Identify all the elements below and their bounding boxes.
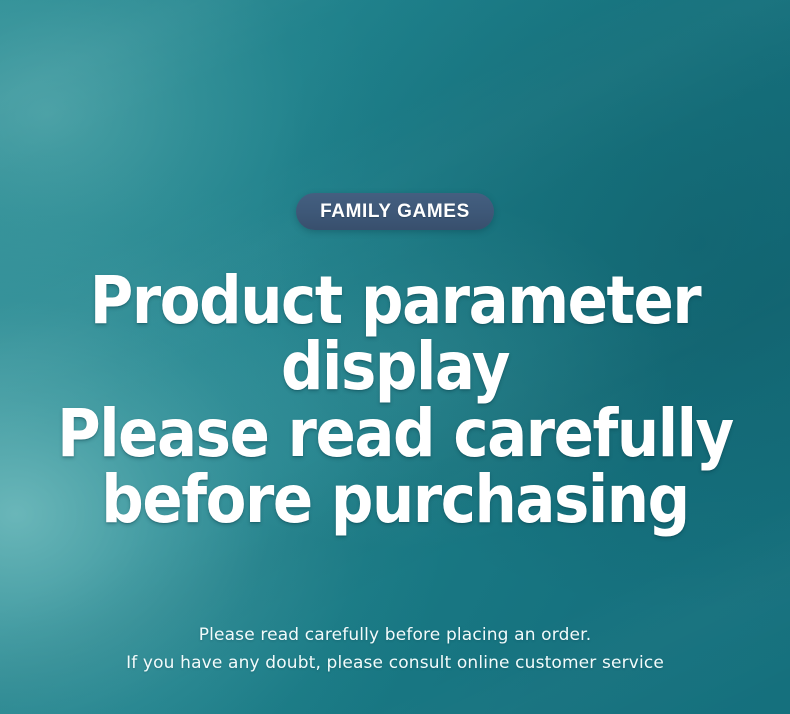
page-title-line-4: before purchasing <box>40 467 751 533</box>
page-subtitle-line-2: If you have any doubt, please consult on… <box>0 649 790 677</box>
category-badge-label: FAMILY GAMES <box>320 202 470 221</box>
product-parameter-banner: FAMILY GAMES Product parameter display P… <box>0 0 790 714</box>
category-badge: FAMILY GAMES <box>296 193 494 230</box>
page-title-line-2: display <box>40 334 751 400</box>
page-subtitle: Please read carefully before placing an … <box>0 621 790 677</box>
page-subtitle-line-1: Please read carefully before placing an … <box>0 621 790 649</box>
banner-content: FAMILY GAMES Product parameter display P… <box>0 0 790 714</box>
page-title-line-3: Please read carefully <box>40 401 751 467</box>
page-title-line-1: Product parameter <box>40 268 751 334</box>
page-title: Product parameter display Please read ca… <box>40 268 751 533</box>
